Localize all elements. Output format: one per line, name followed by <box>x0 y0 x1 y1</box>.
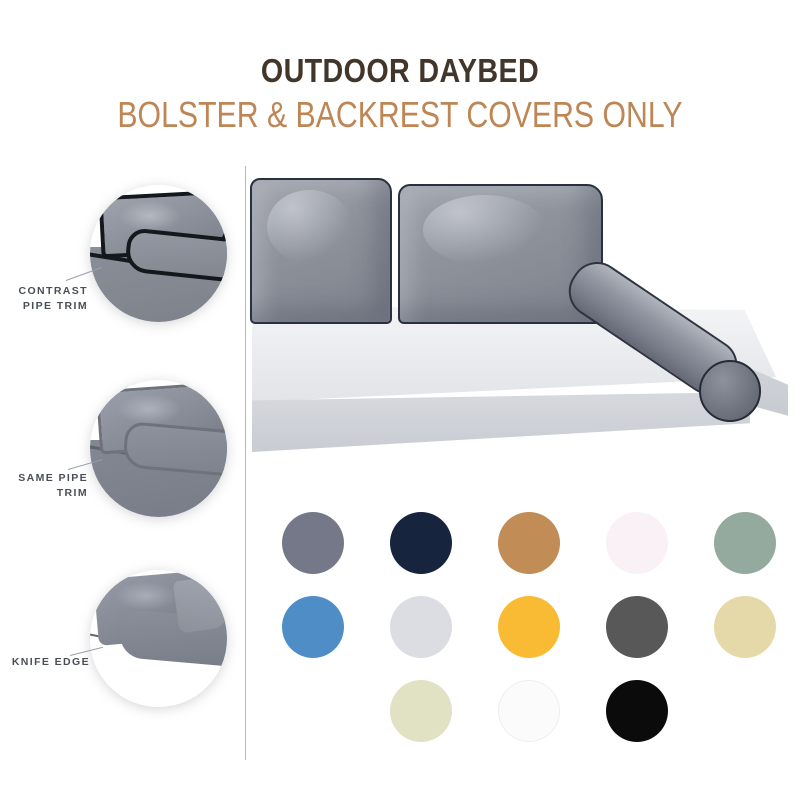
feature-contrast-pipe-trim: CONTRAST PIPE TRIM <box>0 180 245 360</box>
backrest-pillow-left <box>250 178 392 324</box>
same-pipe-trim-label: SAME PIPE TRIM <box>0 471 88 501</box>
swatch-cream-ivory[interactable] <box>390 680 452 742</box>
header: OUTDOOR DAYBED BOLSTER & BACKREST COVERS… <box>0 0 800 150</box>
swatch-white[interactable] <box>498 680 560 742</box>
knife-edge-photo <box>90 570 227 707</box>
swatch-tan-copper[interactable] <box>498 512 560 574</box>
feature-knife-edge: KNIFE EDGE <box>0 565 245 745</box>
contrast-pipe-trim-photo <box>90 185 227 322</box>
vertical-divider <box>245 166 246 760</box>
swatch-row-2 <box>260 596 800 672</box>
swatch-light-gray[interactable] <box>390 596 452 658</box>
swatch-pale-pink[interactable] <box>606 512 668 574</box>
knife-edge-label: KNIFE EDGE <box>0 655 90 670</box>
bolster-roll <box>586 250 796 410</box>
feature-same-pipe-trim: SAME PIPE TRIM <box>0 375 245 555</box>
swatch-gray-blue[interactable] <box>282 512 344 574</box>
swatch-charcoal[interactable] <box>606 596 668 658</box>
swatch-amber-yellow[interactable] <box>498 596 560 658</box>
swatch-sage-green[interactable] <box>714 512 776 574</box>
contrast-pipe-trim-label: CONTRAST PIPE TRIM <box>0 284 88 314</box>
swatch-row-1 <box>260 512 800 588</box>
product-photo <box>248 168 800 498</box>
swatch-row-3 <box>260 680 800 756</box>
same-pipe-trim-photo <box>90 380 227 517</box>
bolster-end-cap <box>699 360 761 422</box>
swatch-khaki-beige[interactable] <box>714 596 776 658</box>
swatch-black[interactable] <box>606 680 668 742</box>
color-swatch-grid <box>260 512 800 752</box>
page-subtitle: BOLSTER & BACKREST COVERS ONLY <box>64 94 736 136</box>
swatch-navy[interactable] <box>390 512 452 574</box>
swatch-ocean-blue[interactable] <box>282 596 344 658</box>
page-title: OUTDOOR DAYBED <box>52 52 748 90</box>
